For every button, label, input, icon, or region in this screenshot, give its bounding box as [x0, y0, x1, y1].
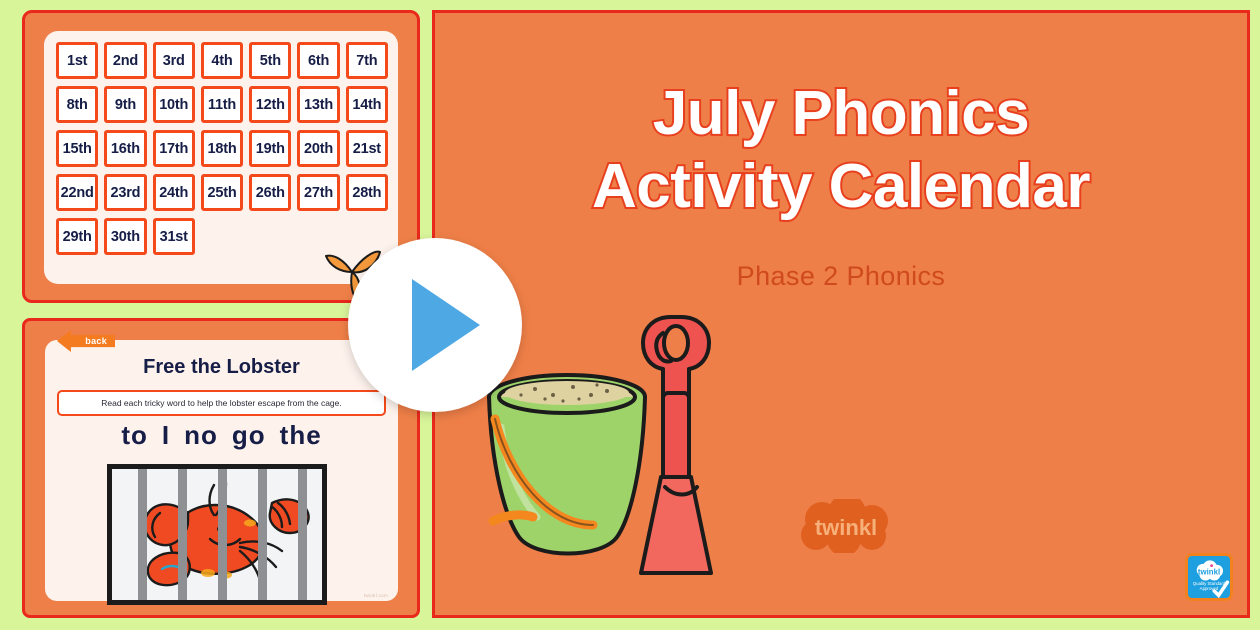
calendar-day-cell[interactable]: 10th	[153, 86, 195, 123]
calendar-day-cell[interactable]: 25th	[201, 174, 243, 211]
cage-bar	[218, 469, 227, 600]
cage-bar	[178, 469, 187, 600]
badge-line1: Quality Standard	[1193, 581, 1226, 586]
badge-brand-text: twinkl	[1198, 567, 1220, 576]
twinkl-logo-text: twinkl	[815, 515, 877, 540]
cage-bar	[258, 469, 267, 600]
calendar-day-cell[interactable]: 6th	[297, 42, 339, 79]
calendar-day-cell[interactable]: 22nd	[56, 174, 98, 211]
calendar-day-cell[interactable]: 1st	[56, 42, 98, 79]
calendar-day-cell[interactable]: 24th	[153, 174, 195, 211]
tricky-word[interactable]: go	[232, 420, 266, 450]
calendar-day-cell[interactable]: 20th	[297, 130, 339, 167]
calendar-day-grid: 1st2nd3rd4th5th6th7th8th9th10th11th12th1…	[56, 42, 388, 255]
twinkl-cloud-logo: twinkl	[792, 499, 900, 553]
back-button-label: back	[85, 336, 115, 346]
calendar-day-cell[interactable]: 16th	[104, 130, 146, 167]
cage-bar	[298, 469, 307, 600]
main-title-slide[interactable]: July Phonics Activity Calendar Phase 2 P…	[432, 10, 1250, 618]
title-line-2: Activity Calendar	[435, 150, 1247, 223]
back-button[interactable]: back	[57, 330, 115, 352]
calendar-day-cell[interactable]: 27th	[297, 174, 339, 211]
calendar-day-cell[interactable]: 15th	[56, 130, 98, 167]
tricky-word[interactable]: no	[184, 420, 218, 450]
lobster-instruction-bar: Read each tricky word to help the lobste…	[57, 390, 386, 416]
calendar-day-cell[interactable]: 23rd	[104, 174, 146, 211]
calendar-day-cell[interactable]: 5th	[249, 42, 291, 79]
play-triangle-icon	[412, 279, 480, 371]
cage-bar	[138, 469, 147, 600]
screenshot-stage: 1st2nd3rd4th5th6th7th8th9th10th11th12th1…	[0, 0, 1260, 630]
title-line-1: July Phonics	[653, 79, 1029, 148]
calendar-day-cell[interactable]: 31st	[153, 218, 195, 255]
calendar-day-cell[interactable]: 18th	[201, 130, 243, 167]
calendar-day-cell[interactable]: 4th	[201, 42, 243, 79]
calendar-day-cell[interactable]: 17th	[153, 130, 195, 167]
tricky-word[interactable]: to	[121, 420, 148, 450]
calendar-day-cell[interactable]: 8th	[56, 86, 98, 123]
tricky-word[interactable]: I	[162, 420, 170, 450]
lobster-slide-title: Free the Lobster	[45, 356, 398, 379]
tricky-words-row: toInogothe	[45, 420, 398, 451]
page-title: July Phonics Activity Calendar	[435, 77, 1247, 223]
lobster-cage-illustration	[107, 464, 327, 605]
calendar-day-cell[interactable]: 26th	[249, 174, 291, 211]
twinkl-watermark: twinkl.com	[364, 593, 388, 598]
calendar-day-cell[interactable]: 19th	[249, 130, 291, 167]
calendar-day-cell[interactable]: 30th	[104, 218, 146, 255]
lobster-instruction-text: Read each tricky word to help the lobste…	[101, 398, 342, 408]
calendar-day-cell[interactable]: 29th	[56, 218, 98, 255]
calendar-day-cell[interactable]: 9th	[104, 86, 146, 123]
calendar-day-cell[interactable]: 11th	[201, 86, 243, 123]
calendar-day-cell[interactable]: 2nd	[104, 42, 146, 79]
lobster-inner-panel: back Free the Lobster Read each tricky w…	[45, 340, 398, 601]
calendar-day-cell[interactable]: 21st	[346, 130, 388, 167]
quality-standard-approved-badge: twinkl Quality Standard Approved	[1185, 553, 1233, 601]
calendar-day-cell[interactable]: 7th	[346, 42, 388, 79]
calendar-day-cell[interactable]: 3rd	[153, 42, 195, 79]
play-button[interactable]	[348, 238, 522, 412]
calendar-day-cell[interactable]: 14th	[346, 86, 388, 123]
calendar-day-cell[interactable]: 13th	[297, 86, 339, 123]
tricky-word[interactable]: the	[280, 420, 322, 450]
calendar-day-cell[interactable]: 12th	[249, 86, 291, 123]
calendar-day-cell[interactable]: 28th	[346, 174, 388, 211]
